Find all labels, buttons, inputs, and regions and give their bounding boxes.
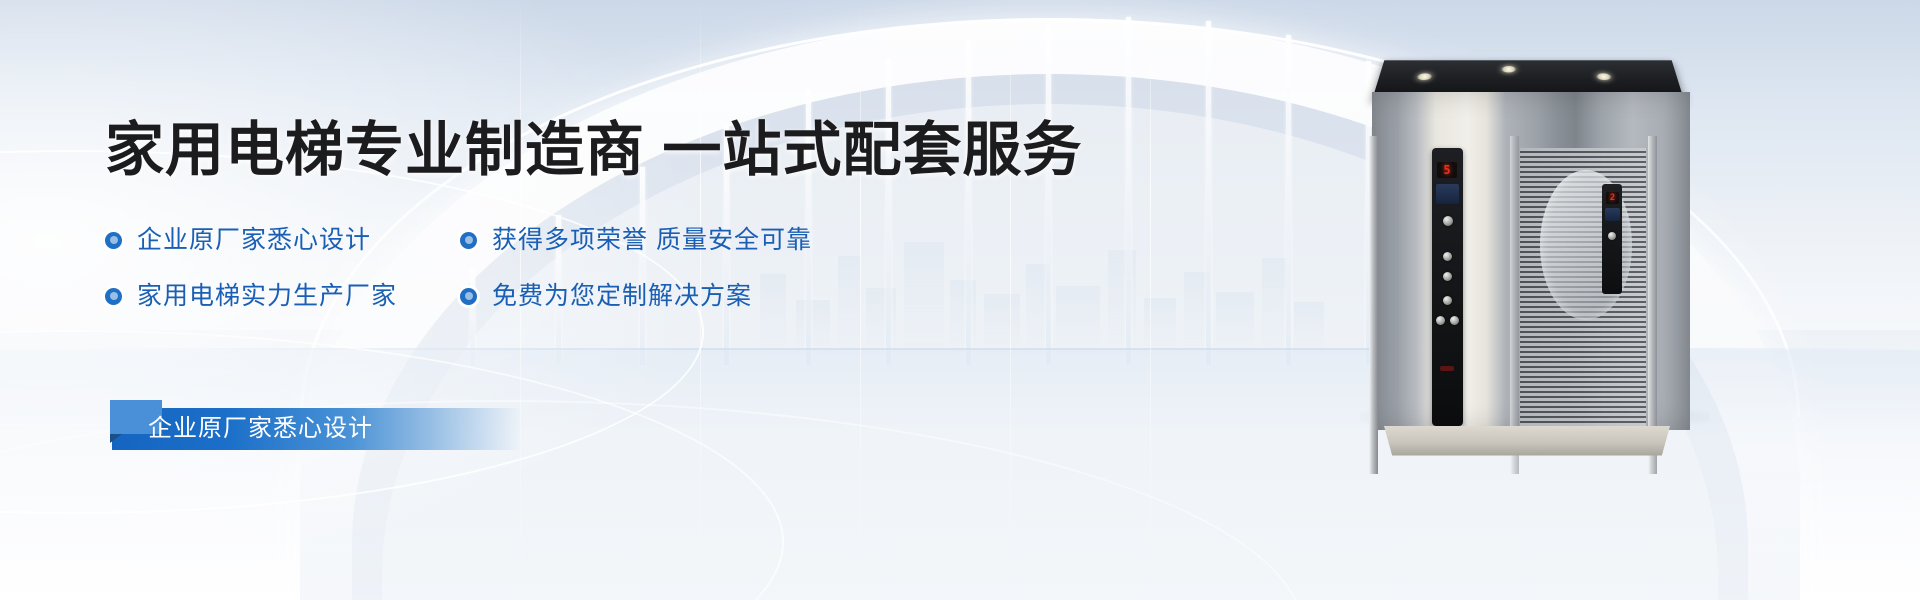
feature-label: 家用电梯实力生产厂家 xyxy=(137,268,397,324)
bullet-dot-icon xyxy=(105,232,122,249)
feature-item-1: 企业原厂家悉心设计 xyxy=(105,212,460,268)
bullet-dot-icon xyxy=(460,288,477,305)
feature-label: 企业原厂家悉心设计 xyxy=(137,212,371,268)
promo-banner: 5 2 家用电梯专业制造 xyxy=(0,0,1920,600)
feature-row: 家用电梯实力生产厂家 免费为您定制解决方案 xyxy=(105,268,1005,324)
feature-item-2: 获得多项荣誉 质量安全可靠 xyxy=(460,212,812,268)
banner-content: 家用电梯专业制造商 一站式配套服务 企业原厂家悉心设计 获得多项荣誉 质量安全可… xyxy=(0,0,1920,600)
feature-item-4: 免费为您定制解决方案 xyxy=(460,268,752,324)
banner-headline: 家用电梯专业制造商 一站式配套服务 xyxy=(105,118,1082,182)
feature-label: 获得多项荣誉 质量安全可靠 xyxy=(492,212,812,268)
highlight-tag-label: 企业原厂家悉心设计 xyxy=(148,408,373,450)
bullet-dot-icon xyxy=(105,288,122,305)
feature-item-3: 家用电梯实力生产厂家 xyxy=(105,268,460,324)
bullet-dot-icon xyxy=(460,232,477,249)
feature-label: 免费为您定制解决方案 xyxy=(492,268,752,324)
feature-list: 企业原厂家悉心设计 获得多项荣誉 质量安全可靠 家用电梯实力生产厂家 免费为您定… xyxy=(105,212,1005,324)
feature-row: 企业原厂家悉心设计 获得多项荣誉 质量安全可靠 xyxy=(105,212,1005,268)
